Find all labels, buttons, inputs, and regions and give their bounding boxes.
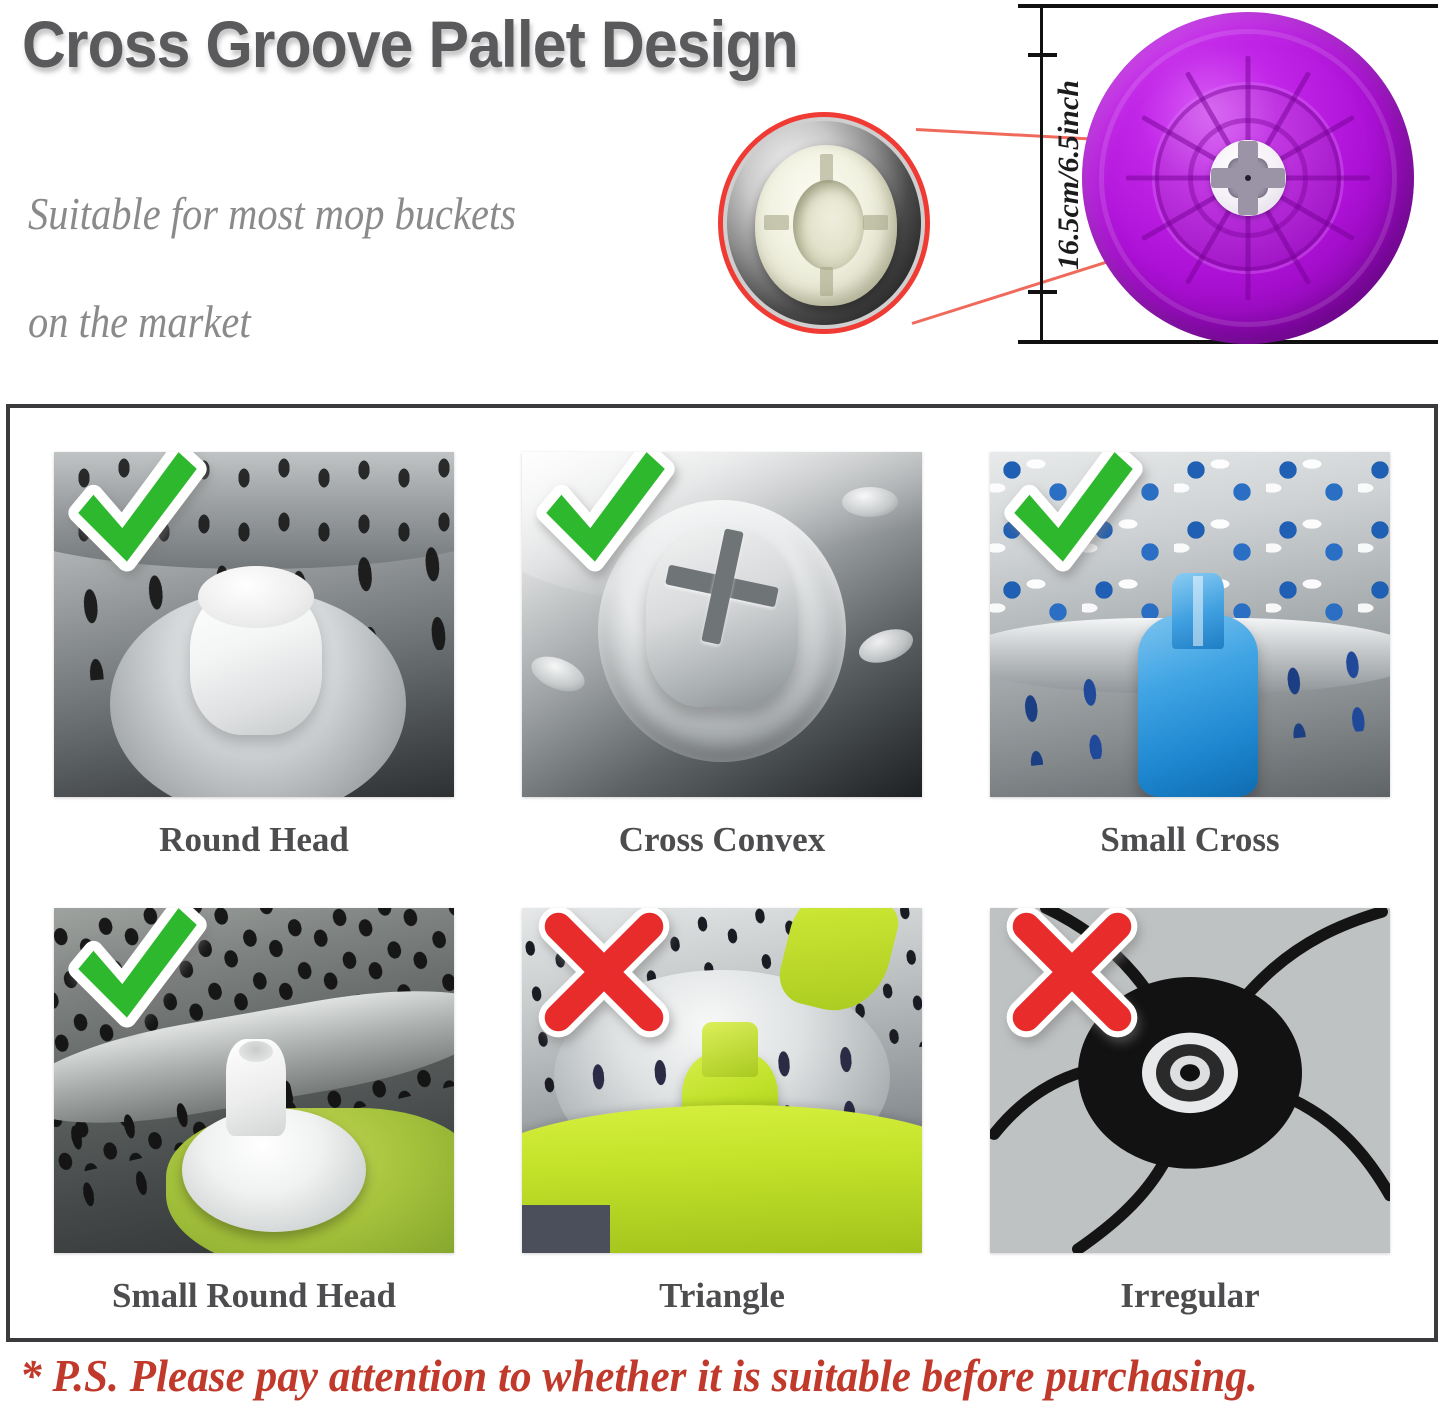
irregular-hub-photo — [990, 908, 1390, 1253]
cross-convex-hub-photo — [522, 452, 922, 797]
small-round-head-hub-photo — [54, 908, 454, 1253]
callout-groove — [820, 154, 833, 183]
page-title: Cross Groove Pallet Design — [22, 6, 798, 82]
compatibility-item-label: Round Head — [20, 820, 488, 860]
compatibility-item: Irregular — [956, 878, 1424, 1334]
compatibility-item-label: Irregular — [956, 1276, 1424, 1316]
compatibility-item-label: Small Round Head — [20, 1276, 488, 1316]
compatibility-item-label: Cross Convex — [488, 820, 956, 860]
small-cross-hub-photo — [990, 452, 1390, 797]
green-check-icon — [528, 452, 680, 592]
triangle-hub-photo — [522, 908, 922, 1253]
red-cross-icon — [528, 908, 680, 1048]
compatibility-item: Small Cross — [956, 422, 1424, 878]
compatibility-item: Cross Convex — [488, 422, 956, 878]
compatibility-item: Small Round Head — [20, 878, 488, 1334]
callout-groove — [820, 267, 833, 296]
compatibility-item-label: Small Cross — [956, 820, 1424, 860]
callout-groove — [863, 215, 888, 229]
cross-groove-socket-closeup-icon — [718, 112, 930, 334]
dimension-top-rule — [1018, 4, 1438, 8]
green-check-icon — [60, 452, 212, 592]
header-section: Cross Groove Pallet Design Suitable for … — [0, 0, 1445, 390]
purchase-note: * P.S. Please pay attention to whether i… — [20, 1350, 1374, 1402]
purple-mop-pallet-disc-icon — [1082, 12, 1414, 344]
callout-socket-body — [755, 145, 896, 306]
callout-socket-bore — [793, 180, 864, 270]
compatibility-panel: Round Head Cross Convex — [6, 404, 1438, 1342]
compatibility-item: Triangle — [488, 878, 956, 1334]
page-subtitle: Suitable for most mop buckets on the mar… — [28, 160, 644, 376]
green-check-icon — [996, 452, 1148, 592]
round-head-hub-photo — [54, 452, 454, 797]
dimension-label: 16.5cm/6.5inch — [1052, 40, 1086, 310]
callout-groove — [764, 215, 789, 229]
compatibility-grid: Round Head Cross Convex — [10, 408, 1434, 1338]
green-check-icon — [60, 908, 212, 1048]
compatibility-item-label: Triangle — [488, 1276, 956, 1316]
red-cross-icon — [996, 908, 1148, 1048]
compatibility-item: Round Head — [20, 422, 488, 878]
